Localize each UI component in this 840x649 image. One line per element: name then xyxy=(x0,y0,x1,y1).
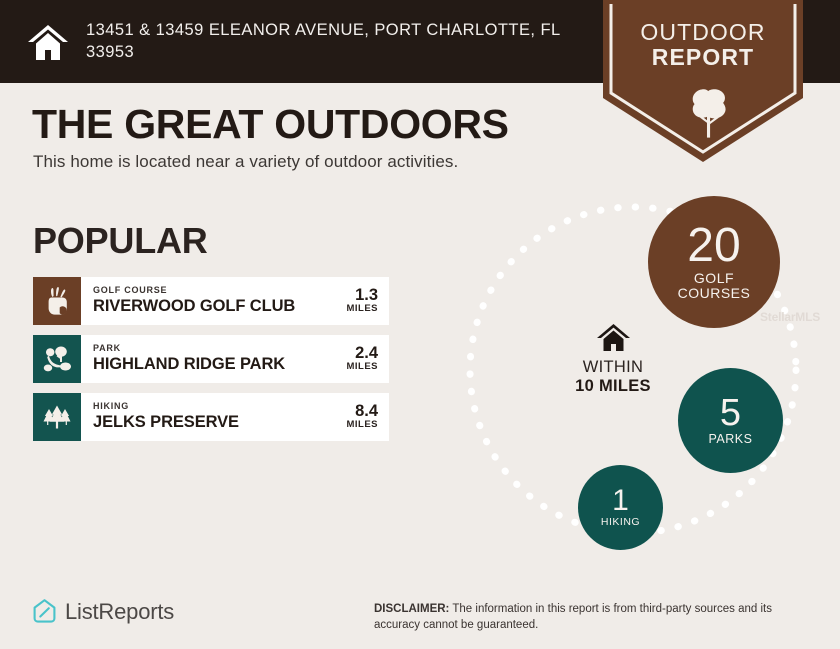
list-item-distance: 2.4 MILES xyxy=(340,335,389,383)
list-item[interactable]: HIKING JELKS PRESERVE 8.4 MILES xyxy=(33,393,389,441)
stat-label: GOLF COURSES xyxy=(678,271,751,301)
listreports-logo[interactable]: ListReports xyxy=(31,598,174,625)
center-label-line-2: 10 MILES xyxy=(558,377,668,396)
list-item-name: RIVERWOOD GOLF CLUB xyxy=(93,297,340,315)
stat-bubble-hiking[interactable]: 1 HIKING xyxy=(578,465,663,550)
distance-value: 8.4 xyxy=(355,403,378,420)
list-item-category: GOLF COURSE xyxy=(93,286,340,296)
distance-unit: MILES xyxy=(346,362,378,372)
stat-count: 1 xyxy=(612,487,629,516)
listreports-brand-text: ListReports xyxy=(65,599,174,625)
park-tree-icon xyxy=(33,335,81,383)
distance-unit: MILES xyxy=(346,304,378,314)
list-item-distance: 8.4 MILES xyxy=(340,393,389,441)
distance-unit: MILES xyxy=(346,420,378,430)
list-item-text: HIKING JELKS PRESERVE xyxy=(81,393,340,441)
list-item-category: HIKING xyxy=(93,402,340,412)
list-item[interactable]: PARK HIGHLAND RIDGE PARK 2.4 MILES xyxy=(33,335,389,383)
stat-bubble-parks[interactable]: 5 PARKS xyxy=(678,368,783,473)
outdoor-amenities-diagram: 20 GOLF COURSES 5 PARKS 1 HIKING WITHIN … xyxy=(440,180,840,560)
page-subtitle: This home is located near a variety of o… xyxy=(33,152,458,172)
stat-count: 20 xyxy=(687,223,740,269)
stat-bubble-golf-courses[interactable]: 20 GOLF COURSES xyxy=(648,196,780,328)
list-item-name: JELKS PRESERVE xyxy=(93,413,340,431)
stat-label-line-2: COURSES xyxy=(678,286,751,301)
list-item-text: PARK HIGHLAND RIDGE PARK xyxy=(81,335,340,383)
list-item[interactable]: GOLF COURSE RIVERWOOD GOLF CLUB 1.3 MILE… xyxy=(33,277,389,325)
disclaimer-label: DISCLAIMER: xyxy=(374,603,449,615)
distance-value: 1.3 xyxy=(355,287,378,304)
stat-label: PARKS xyxy=(709,433,753,447)
outdoor-report-page: 13451 & 13459 ELEANOR AVENUE, PORT CHARL… xyxy=(0,0,840,649)
stat-label-line-1: GOLF xyxy=(678,271,751,286)
popular-list: GOLF COURSE RIVERWOOD GOLF CLUB 1.3 MILE… xyxy=(33,277,389,451)
stat-count: 5 xyxy=(720,395,741,431)
list-item-distance: 1.3 MILES xyxy=(340,277,389,325)
property-address: 13451 & 13459 ELEANOR AVENUE, PORT CHARL… xyxy=(86,20,586,64)
list-item-category: PARK xyxy=(93,344,340,354)
center-label-line-1: WITHIN xyxy=(558,358,668,377)
page-title: THE GREAT OUTDOORS xyxy=(32,101,509,148)
distance-value: 2.4 xyxy=(355,345,378,362)
outdoor-report-badge: OUTDOOR REPORT xyxy=(603,0,803,162)
pine-trees-icon xyxy=(33,393,81,441)
disclaimer: DISCLAIMER: The information in this repo… xyxy=(374,601,812,634)
stellar-mls-watermark: StellarMLS xyxy=(760,310,820,324)
golf-bag-icon xyxy=(33,277,81,325)
list-item-name: HIGHLAND RIDGE PARK xyxy=(93,355,340,373)
diagram-center-marker: WITHIN 10 MILES xyxy=(558,323,668,396)
stat-label: HIKING xyxy=(601,517,640,528)
home-icon xyxy=(596,323,631,353)
section-title-popular: POPULAR xyxy=(33,220,208,262)
home-icon xyxy=(26,23,70,63)
list-item-text: GOLF COURSE RIVERWOOD GOLF CLUB xyxy=(81,277,340,325)
listreports-house-leaf-icon xyxy=(31,598,58,625)
